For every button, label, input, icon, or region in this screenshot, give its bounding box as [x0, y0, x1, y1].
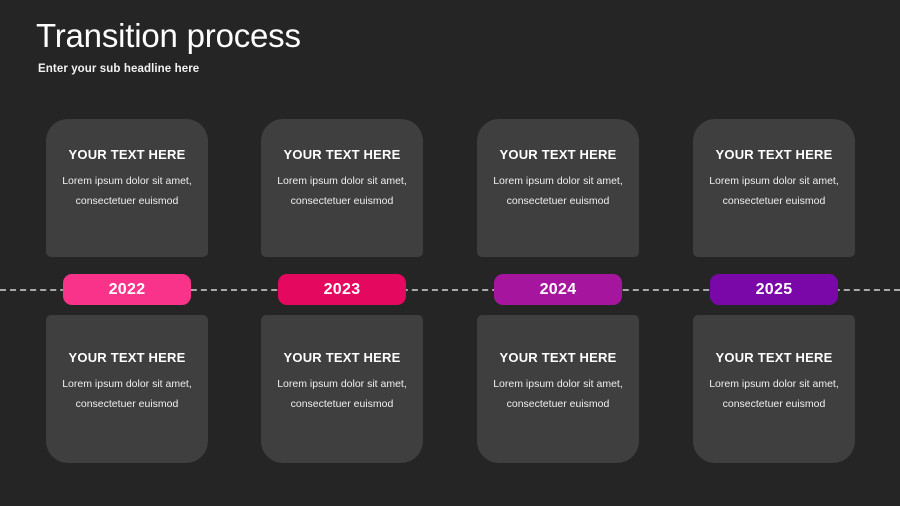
card-heading: YOUR TEXT HERE: [273, 119, 411, 162]
year-badge-label: 2022: [109, 281, 146, 299]
year-badge-2025[interactable]: 2025: [710, 274, 838, 305]
bottom-card-2025[interactable]: YOUR TEXT HERE Lorem ipsum dolor sit ame…: [693, 315, 855, 463]
card-body: Lorem ipsum dolor sit amet, consectetuer…: [58, 171, 196, 211]
year-badge-label: 2025: [756, 281, 793, 299]
year-badge-2024[interactable]: 2024: [494, 274, 622, 305]
card-body: Lorem ipsum dolor sit amet, consectetuer…: [705, 171, 843, 211]
year-badge-2022[interactable]: 2022: [63, 274, 191, 305]
card-heading: YOUR TEXT HERE: [489, 119, 627, 162]
timeline-column-2024: YOUR TEXT HERE Lorem ipsum dolor sit ame…: [477, 0, 639, 506]
card-heading: YOUR TEXT HERE: [705, 315, 843, 365]
card-heading: YOUR TEXT HERE: [489, 315, 627, 365]
timeline-column-2025: YOUR TEXT HERE Lorem ipsum dolor sit ame…: [693, 0, 855, 506]
year-badge-label: 2023: [324, 281, 361, 299]
timeline-column-2023: YOUR TEXT HERE Lorem ipsum dolor sit ame…: [261, 0, 423, 506]
card-heading: YOUR TEXT HERE: [273, 315, 411, 365]
card-heading: YOUR TEXT HERE: [58, 119, 196, 162]
year-badge-2023[interactable]: 2023: [278, 274, 406, 305]
card-heading: YOUR TEXT HERE: [58, 315, 196, 365]
bottom-card-2022[interactable]: YOUR TEXT HERE Lorem ipsum dolor sit ame…: [46, 315, 208, 463]
top-card-2025[interactable]: YOUR TEXT HERE Lorem ipsum dolor sit ame…: [693, 119, 855, 257]
top-card-2023[interactable]: YOUR TEXT HERE Lorem ipsum dolor sit ame…: [261, 119, 423, 257]
card-body: Lorem ipsum dolor sit amet, consectetuer…: [58, 374, 196, 414]
year-badge-label: 2024: [540, 281, 577, 299]
timeline-column-2022: YOUR TEXT HERE Lorem ipsum dolor sit ame…: [46, 0, 208, 506]
card-body: Lorem ipsum dolor sit amet, consectetuer…: [273, 374, 411, 414]
top-card-2024[interactable]: YOUR TEXT HERE Lorem ipsum dolor sit ame…: [477, 119, 639, 257]
bottom-card-2024[interactable]: YOUR TEXT HERE Lorem ipsum dolor sit ame…: [477, 315, 639, 463]
slide-canvas: Transition process Enter your sub headli…: [0, 0, 900, 506]
top-card-2022[interactable]: YOUR TEXT HERE Lorem ipsum dolor sit ame…: [46, 119, 208, 257]
bottom-card-2023[interactable]: YOUR TEXT HERE Lorem ipsum dolor sit ame…: [261, 315, 423, 463]
card-heading: YOUR TEXT HERE: [705, 119, 843, 162]
card-body: Lorem ipsum dolor sit amet, consectetuer…: [489, 171, 627, 211]
card-body: Lorem ipsum dolor sit amet, consectetuer…: [273, 171, 411, 211]
card-body: Lorem ipsum dolor sit amet, consectetuer…: [489, 374, 627, 414]
card-body: Lorem ipsum dolor sit amet, consectetuer…: [705, 374, 843, 414]
